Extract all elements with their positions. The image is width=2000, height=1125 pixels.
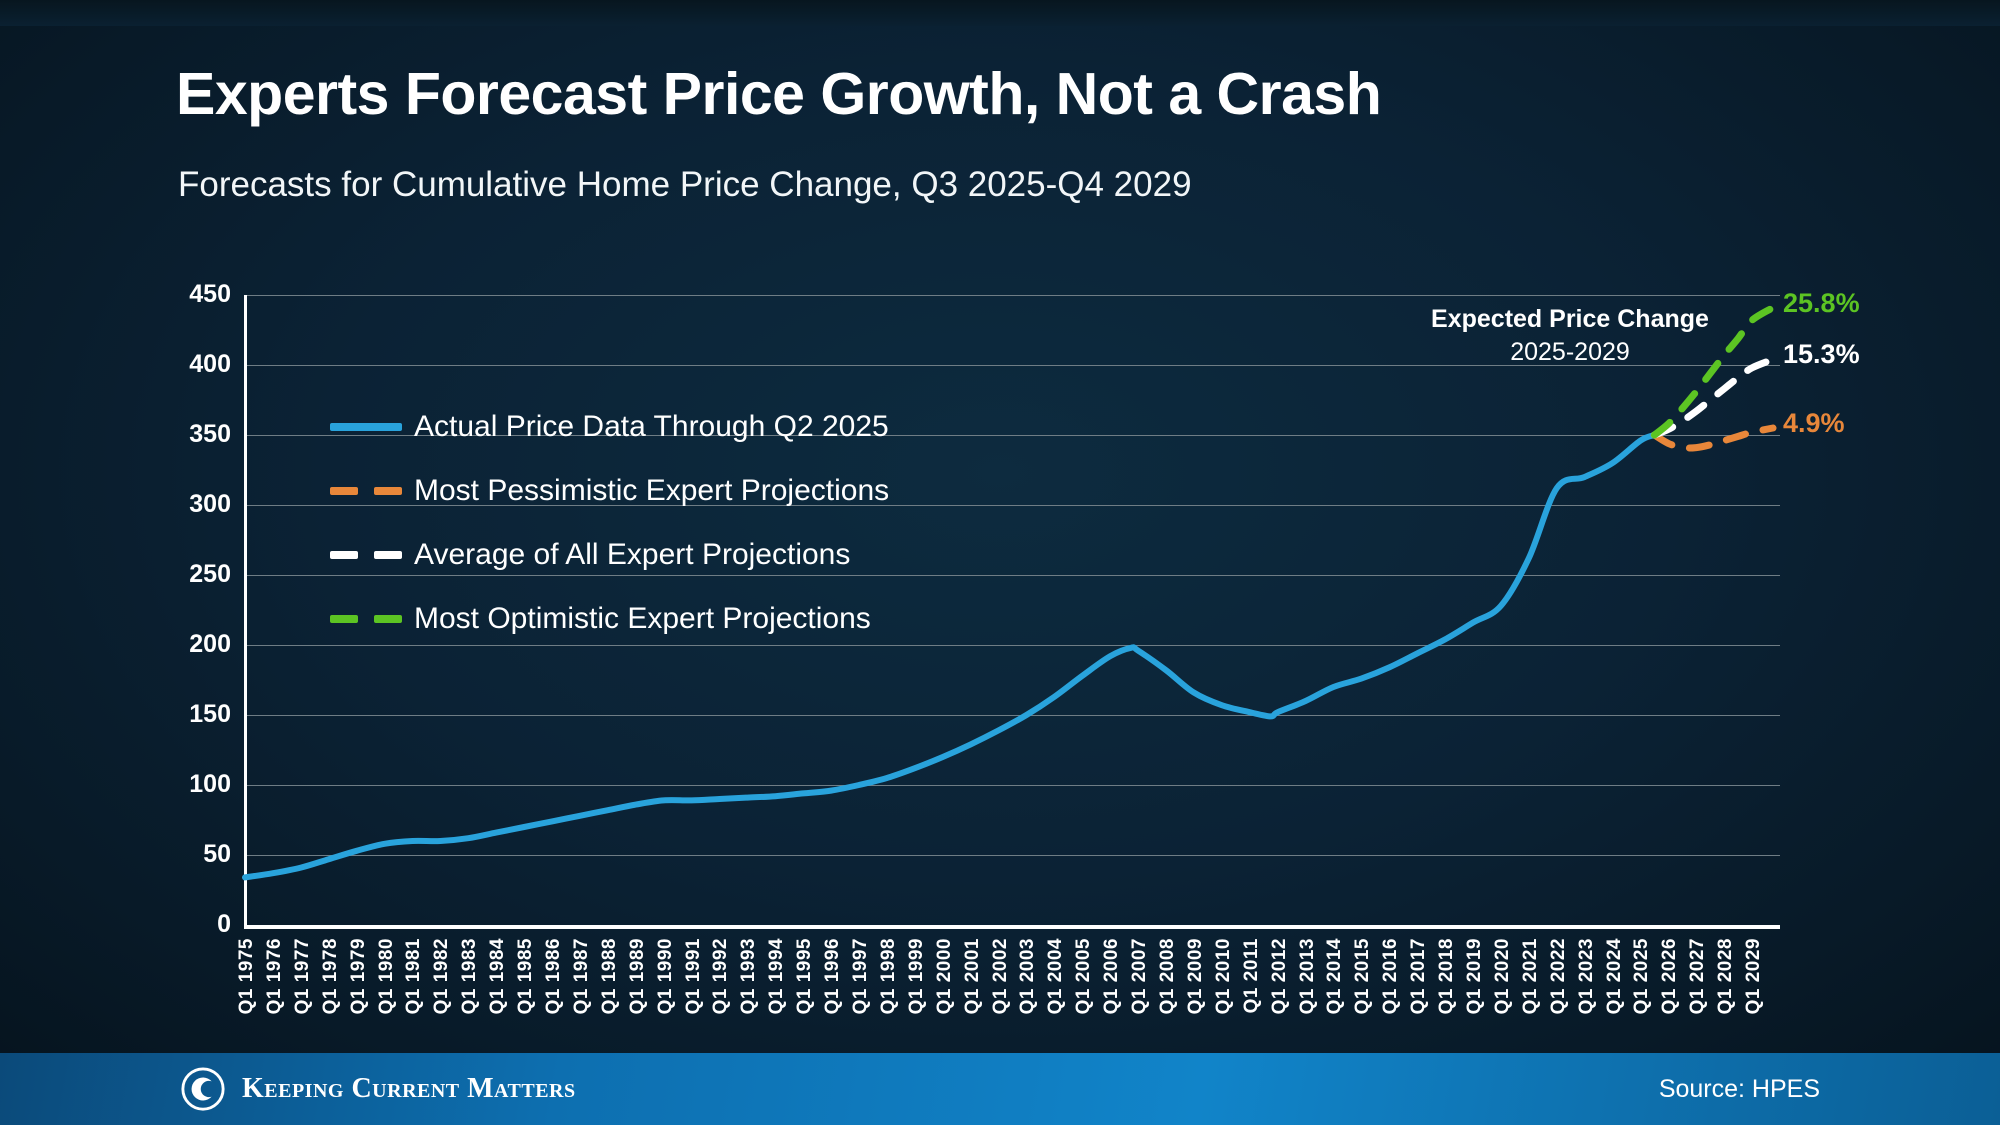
y-axis-tick-label: 50 bbox=[203, 840, 231, 869]
x-axis-tick-label: Q1 1999 bbox=[906, 938, 928, 1014]
y-axis-tick-label: 300 bbox=[189, 490, 231, 519]
page-title: Experts Forecast Price Growth, Not a Cra… bbox=[176, 60, 1381, 128]
series-end-value-label: 4.9% bbox=[1783, 408, 1845, 439]
x-axis-tick-label: Q1 2016 bbox=[1380, 938, 1402, 1014]
annotation-line-1: Expected Price Change bbox=[1420, 305, 1720, 334]
x-axis-tick-label: Q1 2014 bbox=[1324, 938, 1346, 1014]
x-axis-tick-label: Q1 2027 bbox=[1687, 938, 1709, 1014]
x-axis-tick-label: Q1 1981 bbox=[403, 938, 425, 1014]
y-axis-tick-label: 450 bbox=[189, 280, 231, 309]
x-axis-tick-label: Q1 2003 bbox=[1017, 938, 1039, 1014]
legend-label: Average of All Expert Projections bbox=[414, 538, 850, 572]
x-axis-tick-label: Q1 2028 bbox=[1715, 938, 1737, 1014]
x-axis-tick-label: Q1 2024 bbox=[1604, 938, 1626, 1014]
x-axis-tick-label: Q1 2009 bbox=[1185, 938, 1207, 1014]
legend-label: Actual Price Data Through Q2 2025 bbox=[414, 410, 889, 444]
y-axis-tick-label: 350 bbox=[189, 420, 231, 449]
x-axis-tick-label: Q1 1996 bbox=[822, 938, 844, 1014]
legend-swatch bbox=[330, 551, 402, 559]
x-axis-tick-label: Q1 1990 bbox=[655, 938, 677, 1014]
brand-lockup: Keeping Current Matters bbox=[180, 1066, 576, 1112]
y-axis-tick-label: 250 bbox=[189, 560, 231, 589]
x-axis-tick-label: Q1 1978 bbox=[320, 938, 342, 1014]
x-axis-tick-label: Q1 1985 bbox=[515, 938, 537, 1014]
x-axis-tick-label: Q1 2007 bbox=[1129, 938, 1151, 1014]
x-axis-tick-label: Q1 2023 bbox=[1576, 938, 1598, 1014]
x-axis-tick-label: Q1 2015 bbox=[1352, 938, 1374, 1014]
chart-legend: Actual Price Data Through Q2 2025Most Pe… bbox=[330, 395, 889, 651]
x-axis-tick-label: Q1 1987 bbox=[571, 938, 593, 1014]
footer-bar: Keeping Current Matters Source: HPES bbox=[0, 1053, 2000, 1125]
x-axis-tick-label: Q1 1977 bbox=[292, 938, 314, 1014]
x-axis-tick-label: Q1 2022 bbox=[1548, 938, 1570, 1014]
legend-item-4[interactable]: Most Optimistic Expert Projections bbox=[330, 587, 889, 651]
brand-name: Keeping Current Matters bbox=[242, 1073, 576, 1105]
y-axis-tick-label: 100 bbox=[189, 770, 231, 799]
legend-label: Most Pessimistic Expert Projections bbox=[414, 474, 889, 508]
x-axis-tick-label: Q1 2013 bbox=[1297, 938, 1319, 1014]
x-axis-tick-label: Q1 1998 bbox=[878, 938, 900, 1014]
x-axis-tick-label: Q1 1991 bbox=[683, 938, 705, 1014]
expected-price-change-annotation: Expected Price Change 2025-2029 bbox=[1420, 305, 1720, 367]
source-attribution: Source: HPES bbox=[1659, 1075, 1820, 1104]
x-axis-tick-label: Q1 2021 bbox=[1520, 938, 1542, 1014]
x-axis-tick-label: Q1 1997 bbox=[850, 938, 872, 1014]
series-end-value-label: 25.8% bbox=[1783, 288, 1860, 319]
x-axis-tick-label: Q1 2002 bbox=[990, 938, 1012, 1014]
legend-swatch bbox=[330, 423, 402, 431]
x-axis-tick-label: Q1 2005 bbox=[1073, 938, 1095, 1014]
y-axis-tick-label: 400 bbox=[189, 350, 231, 379]
x-axis-tick-label: Q1 1979 bbox=[348, 938, 370, 1014]
page-subtitle: Forecasts for Cumulative Home Price Chan… bbox=[178, 165, 1192, 205]
x-axis-tick-label: Q1 2025 bbox=[1631, 938, 1653, 1014]
legend-item-3[interactable]: Average of All Expert Projections bbox=[330, 523, 889, 587]
x-axis-tick-label: Q1 1995 bbox=[794, 938, 816, 1014]
legend-swatch bbox=[330, 615, 402, 623]
x-axis-tick-label: Q1 2011 bbox=[1241, 938, 1263, 1013]
x-axis-tick-label: Q1 2029 bbox=[1743, 938, 1765, 1014]
top-gradient-band bbox=[0, 0, 2000, 26]
circle-c-logo-icon bbox=[180, 1066, 226, 1112]
x-axis-tick-label: Q1 1975 bbox=[236, 938, 258, 1014]
x-axis-tick-label: Q1 1982 bbox=[431, 938, 453, 1014]
x-axis-tick-label: Q1 2017 bbox=[1408, 938, 1430, 1014]
x-axis-tick-label: Q1 1994 bbox=[766, 938, 788, 1014]
x-axis-tick-label: Q1 1992 bbox=[710, 938, 732, 1014]
legend-item-2[interactable]: Most Pessimistic Expert Projections bbox=[330, 459, 889, 523]
x-axis-line bbox=[245, 925, 1780, 929]
x-axis-tick-label: Q1 1989 bbox=[627, 938, 649, 1014]
x-axis-tick-label: Q1 2006 bbox=[1101, 938, 1123, 1014]
y-axis-tick-label: 0 bbox=[217, 910, 231, 939]
legend-label: Most Optimistic Expert Projections bbox=[414, 602, 871, 636]
slide-canvas: Experts Forecast Price Growth, Not a Cra… bbox=[0, 0, 2000, 1125]
x-axis-tick-label: Q1 1980 bbox=[376, 938, 398, 1014]
x-axis-tick-label: Q1 2000 bbox=[934, 938, 956, 1014]
x-axis-tick-label: Q1 2010 bbox=[1213, 938, 1235, 1014]
x-axis-tick-label: Q1 1984 bbox=[487, 938, 509, 1014]
x-axis-tick-label: Q1 1983 bbox=[459, 938, 481, 1014]
series-end-value-label: 15.3% bbox=[1783, 339, 1860, 370]
annotation-line-2: 2025-2029 bbox=[1420, 338, 1720, 367]
x-axis-tick-label: Q1 2008 bbox=[1157, 938, 1179, 1014]
x-axis-tick-label: Q1 2020 bbox=[1492, 938, 1514, 1014]
x-axis-tick-label: Q1 1988 bbox=[599, 938, 621, 1014]
x-axis-tick-label: Q1 1993 bbox=[738, 938, 760, 1014]
x-axis-tick-label: Q1 1976 bbox=[264, 938, 286, 1014]
x-axis-tick-label: Q1 1986 bbox=[543, 938, 565, 1014]
y-axis-tick-label: 200 bbox=[189, 630, 231, 659]
y-axis-tick-label: 150 bbox=[189, 700, 231, 729]
chart-x-axis-labels: Q1 1975Q1 1976Q1 1977Q1 1978Q1 1979Q1 19… bbox=[245, 938, 1780, 1058]
legend-item-1[interactable]: Actual Price Data Through Q2 2025 bbox=[330, 395, 889, 459]
x-axis-tick-label: Q1 2001 bbox=[962, 938, 984, 1014]
x-axis-tick-label: Q1 2018 bbox=[1436, 938, 1458, 1014]
x-axis-tick-label: Q1 2019 bbox=[1464, 938, 1486, 1014]
x-axis-tick-label: Q1 2012 bbox=[1269, 938, 1291, 1014]
legend-swatch bbox=[330, 487, 402, 495]
x-axis-tick-label: Q1 2004 bbox=[1045, 938, 1067, 1014]
x-axis-tick-label: Q1 2026 bbox=[1659, 938, 1681, 1014]
